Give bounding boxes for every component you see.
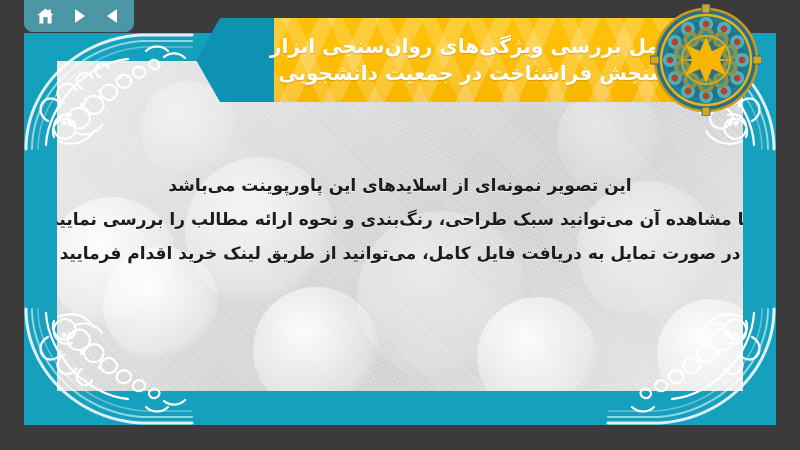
slide-body-text: این تصویر نمونه‌ای از اسلایدهای این پاور… (57, 169, 743, 271)
body-line-2: با مشاهده آن می‌توانید سبک طراحی، رنگ‌بن… (57, 203, 743, 237)
body-line-3: در صورت تمایل به دریافت فایل کامل، می‌تو… (60, 237, 741, 271)
home-button[interactable] (35, 6, 55, 26)
banner-tail-shape (196, 18, 276, 102)
banner-title-plate: کامل بررسی ویژگی‌های روان‌سنجی ابزار سنج… (274, 18, 694, 102)
forward-triangle-icon (70, 7, 88, 25)
previous-slide-button[interactable] (103, 6, 123, 26)
home-icon (36, 7, 55, 26)
title-line-2: سنجش فراشناخت در جمعیت دانشجویی (278, 60, 670, 87)
slide-title-banner: کامل بررسی ویژگی‌های روان‌سنجی ابزار سنج… (196, 18, 756, 102)
islamic-medallion-icon (650, 4, 762, 116)
bokeh-circle (477, 297, 597, 391)
bokeh-circle (657, 299, 743, 391)
next-slide-button[interactable] (69, 6, 89, 26)
slide-content-area: این تصویر نمونه‌ای از اسلایدهای این پاور… (57, 61, 743, 391)
back-triangle-icon (104, 7, 122, 25)
bokeh-circle (253, 287, 379, 391)
body-line-1: این تصویر نمونه‌ای از اسلایدهای این پاور… (168, 169, 631, 203)
navigation-bar (24, 0, 134, 32)
presentation-viewer: این تصویر نمونه‌ای از اسلایدهای این پاور… (0, 0, 800, 450)
title-line-1: کامل بررسی ویژگی‌های روان‌سنجی ابزار (270, 33, 678, 60)
